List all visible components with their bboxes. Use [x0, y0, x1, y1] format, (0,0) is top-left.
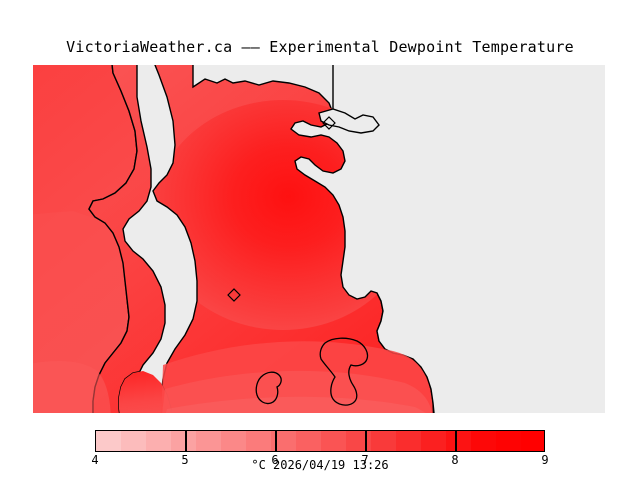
colorbar-segment	[246, 431, 272, 451]
colorbar-segment	[221, 431, 247, 451]
colorbar-segment	[121, 431, 147, 451]
colorbar-caption: °C 2026/04/19 13:26	[0, 458, 640, 472]
colorbar-tick	[455, 431, 457, 451]
page-title: VictoriaWeather.ca —— Experimental Dewpo…	[0, 38, 640, 56]
colorbar-segment	[421, 431, 447, 451]
weather-map-page: VictoriaWeather.ca —— Experimental Dewpo…	[0, 0, 640, 480]
colorbar-segment	[321, 431, 347, 451]
colorbar-segment	[371, 431, 397, 451]
colorbar-segment	[346, 431, 372, 451]
colorbar-segment	[446, 431, 472, 451]
colorbar-segment	[296, 431, 322, 451]
colorbar-segment	[496, 431, 522, 451]
colorbar-segment	[396, 431, 422, 451]
map-canvas[interactable]	[33, 65, 605, 413]
colorbar-tick	[275, 431, 277, 451]
colorbar-segment	[471, 431, 497, 451]
colorbar[interactable]: 456789	[95, 430, 545, 452]
colorbar-segment	[521, 431, 545, 451]
map-layers	[33, 65, 605, 413]
colorbar-gradient[interactable]	[95, 430, 545, 452]
colorbar-segment	[196, 431, 222, 451]
colorbar-segment	[146, 431, 172, 451]
colorbar-tick	[185, 431, 187, 451]
contour-map-svg	[33, 65, 605, 413]
colorbar-tick	[365, 431, 367, 451]
colorbar-segment	[171, 431, 197, 451]
colorbar-segment	[96, 431, 122, 451]
